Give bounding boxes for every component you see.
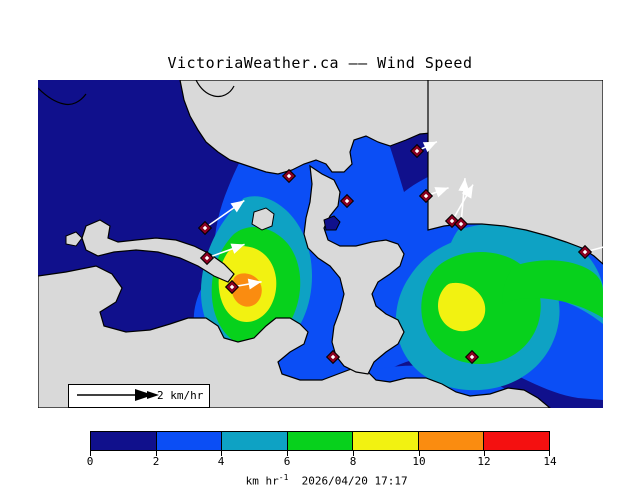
scale-legend: 2 km/hr — [68, 384, 210, 408]
timestamp-label: 2026/04/20 17:17 — [302, 475, 408, 488]
page-title: VictoriaWeather.ca —— Wind Speed — [0, 54, 640, 72]
colorbar-segment-0-2 — [91, 432, 157, 450]
scale-legend-label: 2 km/hr — [157, 389, 203, 402]
colorbar-caption: km hr-1 2026/04/20 17:17 — [0, 460, 640, 488]
colorbar-segment-8-10 — [353, 432, 419, 450]
weather-map — [38, 80, 603, 408]
colorbar: 02468101214 — [90, 431, 550, 451]
map-canvas — [38, 80, 603, 408]
colorbar-segment-6-8 — [288, 432, 354, 450]
units-label: km hr — [246, 475, 279, 488]
units-exponent: -1 — [279, 473, 289, 482]
colorbar-segment-2-4 — [157, 432, 223, 450]
colorbar-swatches — [90, 431, 550, 451]
colorbar-segment-12-14 — [484, 432, 549, 450]
colorbar-segment-4-6 — [222, 432, 288, 450]
colorbar-segment-10-12 — [419, 432, 485, 450]
